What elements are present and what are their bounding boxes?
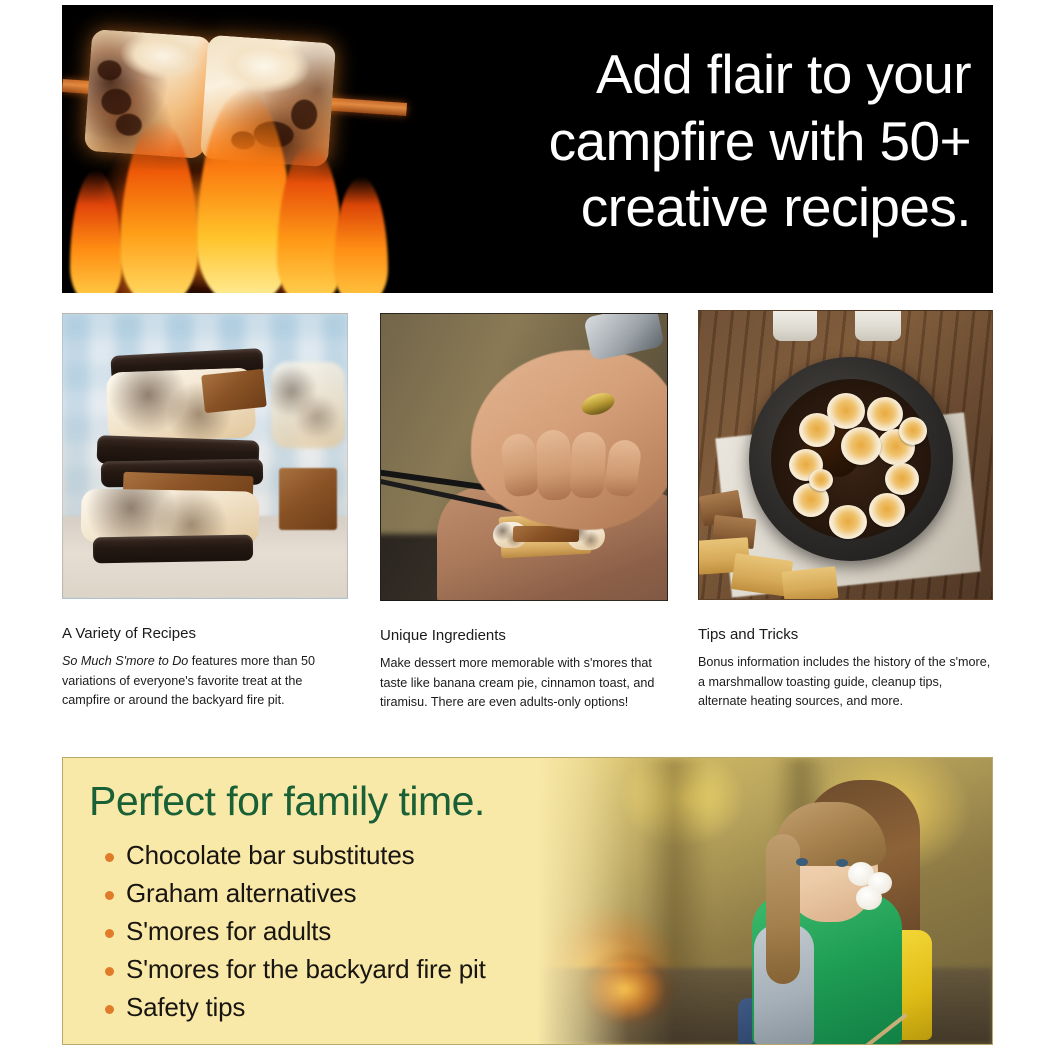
feature-title-ingredients: Unique Ingredients xyxy=(380,627,668,645)
promo-bullet-1: Graham alternatives xyxy=(89,875,649,913)
hero-headline: Add flair to your campfire with 50+ crea… xyxy=(351,41,971,241)
promo-bullet-3: S'mores for the backyard fire pit xyxy=(89,951,649,989)
promo-bullet-2: S'mores for adults xyxy=(89,913,649,951)
promo-text-block: Perfect for family time. Chocolate bar s… xyxy=(89,780,649,1027)
flame-1 xyxy=(70,170,122,293)
promo-bullet-0: Chocolate bar substitutes xyxy=(89,837,649,875)
feature-body-ingredients: Make dessert more memorable with s'mores… xyxy=(380,654,668,713)
feature-column-tips: Tips and Tricks Bonus information includ… xyxy=(698,310,993,712)
feature-title-tips: Tips and Tricks xyxy=(698,626,993,644)
marketing-page: Add flair to your campfire with 50+ crea… xyxy=(0,0,1050,1050)
promo-panel: Perfect for family time. Chocolate bar s… xyxy=(62,757,993,1045)
feature-column-ingredients: Unique Ingredients Make dessert more mem… xyxy=(380,310,668,713)
promo-bullet-4: Safety tips xyxy=(89,989,649,1027)
promo-bullet-list: Chocolate bar substitutes Graham alterna… xyxy=(89,837,649,1027)
hero-banner: Add flair to your campfire with 50+ crea… xyxy=(62,5,993,293)
feature-photo-ingredients xyxy=(380,313,668,601)
feature-photo-tips xyxy=(698,310,993,600)
feature-column-variety: A Variety of Recipes So Much S'more to D… xyxy=(62,310,348,711)
feature-body-tips: Bonus information includes the history o… xyxy=(698,653,993,712)
promo-title: Perfect for family time. xyxy=(89,780,649,823)
girl-illustration xyxy=(712,776,926,1044)
feature-title-variety: A Variety of Recipes xyxy=(62,625,348,643)
book-title-italic: So Much S'more to Do xyxy=(62,654,188,668)
feature-body-variety: So Much S'more to Do features more than … xyxy=(62,652,348,711)
feature-photo-variety xyxy=(62,313,348,599)
